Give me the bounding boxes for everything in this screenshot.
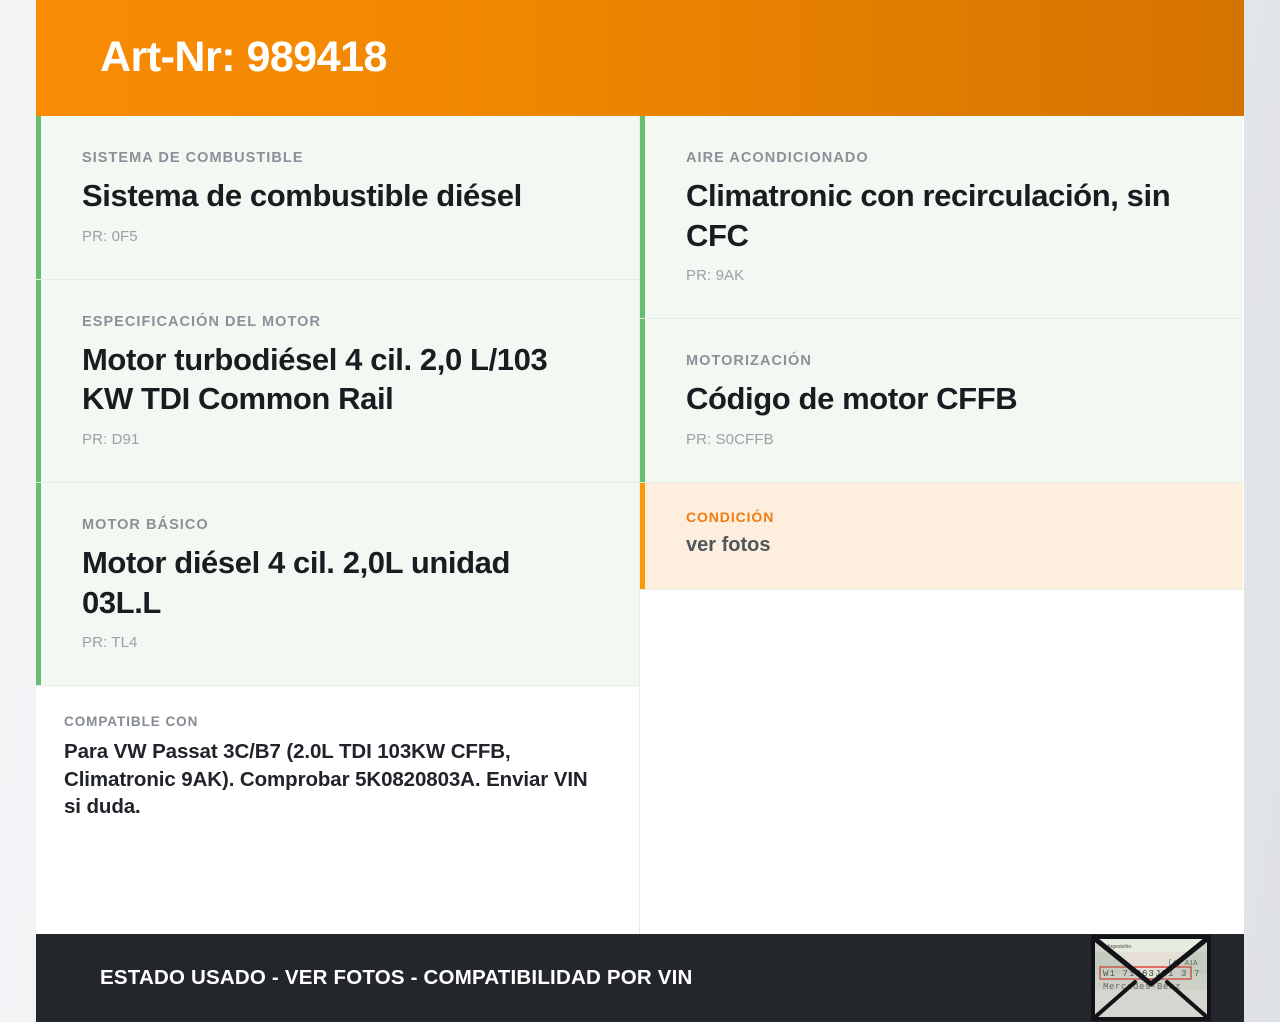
right-column-filler	[640, 590, 1243, 934]
spec-column-left: SISTEMA DE COMBUSTIBLE Sistema de combus…	[36, 116, 640, 934]
compatibility-card: COMPATIBLE CON Para VW Passat 3C/B7 (2.0…	[36, 686, 639, 850]
spec-value: Sistema de combustible diésel	[82, 176, 595, 216]
spec-value: Climatronic con recirculación, sin CFC	[686, 176, 1199, 255]
condition-value: ver fotos	[686, 533, 1199, 559]
vin-envelope-icon: Fahrgestellnr. [4] A1A W1 71463J31 3 7 M…	[1090, 934, 1212, 1022]
listing-card: Art-Nr: 989418 SISTEMA DE COMBUSTIBLE Si…	[36, 0, 1244, 1022]
spec-card: SISTEMA DE COMBUSTIBLE Sistema de combus…	[36, 116, 639, 280]
spec-pr-code: PR: S0CFFB	[686, 431, 1199, 448]
spec-label: ESPECIFICACIÓN DEL MOTOR	[82, 314, 595, 330]
spec-card: MOTORIZACIÓN Código de motor CFFB PR: S0…	[640, 319, 1243, 483]
spec-grid: SISTEMA DE COMBUSTIBLE Sistema de combus…	[36, 116, 1244, 934]
spec-value: Motor diésel 4 cil. 2,0L unidad 03L.L	[82, 543, 595, 622]
header-bar: Art-Nr: 989418	[36, 0, 1244, 116]
spec-pr-code: PR: D91	[82, 431, 595, 448]
spec-label: SISTEMA DE COMBUSTIBLE	[82, 150, 595, 166]
spec-pr-code: PR: 0F5	[82, 228, 595, 245]
condition-label: CONDICIÓN	[686, 509, 1199, 525]
spec-card: AIRE ACONDICIONADO Climatronic con recir…	[640, 116, 1243, 319]
compatibility-label: COMPATIBLE CON	[64, 714, 605, 729]
spec-label: MOTOR BÁSICO	[82, 517, 595, 533]
spec-card: ESPECIFICACIÓN DEL MOTOR Motor turbodiés…	[36, 280, 639, 483]
compatibility-value: Para VW Passat 3C/B7 (2.0L TDI 103KW CFF…	[64, 738, 605, 820]
spec-card: MOTOR BÁSICO Motor diésel 4 cil. 2,0L un…	[36, 483, 639, 686]
footer-bar: ESTADO USADO - VER FOTOS - COMPATIBILIDA…	[36, 934, 1244, 1022]
spec-pr-code: PR: 9AK	[686, 267, 1199, 284]
spec-label: AIRE ACONDICIONADO	[686, 150, 1199, 166]
footer-notice: ESTADO USADO - VER FOTOS - COMPATIBILIDA…	[36, 966, 693, 990]
spec-pr-code: PR: TL4	[82, 634, 595, 651]
spec-value: Motor turbodiésel 4 cil. 2,0 L/103 KW TD…	[82, 340, 595, 419]
spec-value: Código de motor CFFB	[686, 379, 1199, 419]
page-title: Art-Nr: 989418	[36, 34, 387, 81]
spec-column-right: AIRE ACONDICIONADO Climatronic con recir…	[640, 116, 1243, 934]
condition-card: CONDICIÓN ver fotos	[640, 483, 1243, 590]
spec-label: MOTORIZACIÓN	[686, 353, 1199, 369]
left-column-filler	[36, 850, 639, 934]
